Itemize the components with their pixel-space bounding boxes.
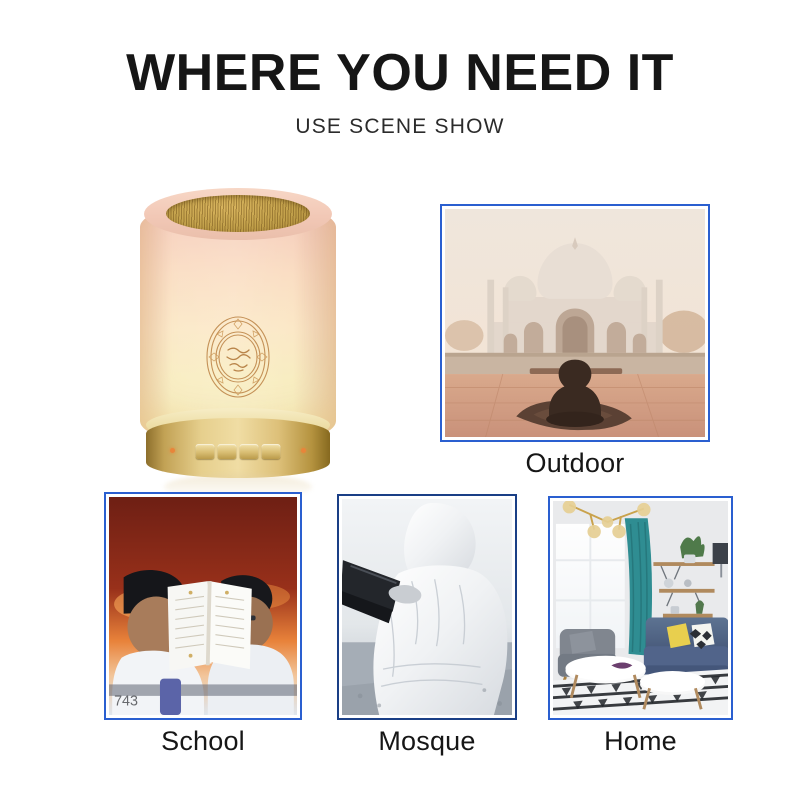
quran-emblem-icon bbox=[201, 314, 275, 400]
page-title: WHERE YOU NEED IT bbox=[0, 0, 800, 101]
control-button-4[interactable] bbox=[262, 444, 281, 459]
led-indicator-right bbox=[301, 448, 306, 453]
page-subtitle: USE SCENE SHOW bbox=[0, 101, 800, 139]
scene-image-school: 743 bbox=[109, 497, 297, 715]
svg-text:743: 743 bbox=[114, 693, 138, 709]
scene-panel-outdoor[interactable] bbox=[440, 204, 710, 442]
control-button-2[interactable] bbox=[218, 444, 237, 459]
scene-panel-school[interactable]: 743 bbox=[104, 492, 302, 720]
caption-mosque: Mosque bbox=[337, 726, 517, 757]
control-buttons[interactable] bbox=[196, 444, 281, 459]
scene-image-home bbox=[553, 501, 728, 715]
speaker-grille-icon bbox=[166, 195, 310, 232]
control-button-1[interactable] bbox=[196, 444, 215, 459]
scene-image-mosque bbox=[342, 499, 512, 715]
control-button-3[interactable] bbox=[240, 444, 259, 459]
quran-speaker-lamp bbox=[136, 186, 340, 472]
header: WHERE YOU NEED IT USE SCENE SHOW bbox=[0, 0, 800, 139]
scene-panel-mosque[interactable] bbox=[337, 494, 517, 720]
scene-image-outdoor bbox=[445, 209, 705, 437]
scene-panel-home[interactable] bbox=[548, 496, 733, 720]
led-indicator-left bbox=[170, 448, 175, 453]
caption-outdoor: Outdoor bbox=[440, 448, 710, 479]
product-image bbox=[118, 186, 358, 496]
caption-school: School bbox=[104, 726, 302, 757]
caption-home: Home bbox=[548, 726, 733, 757]
